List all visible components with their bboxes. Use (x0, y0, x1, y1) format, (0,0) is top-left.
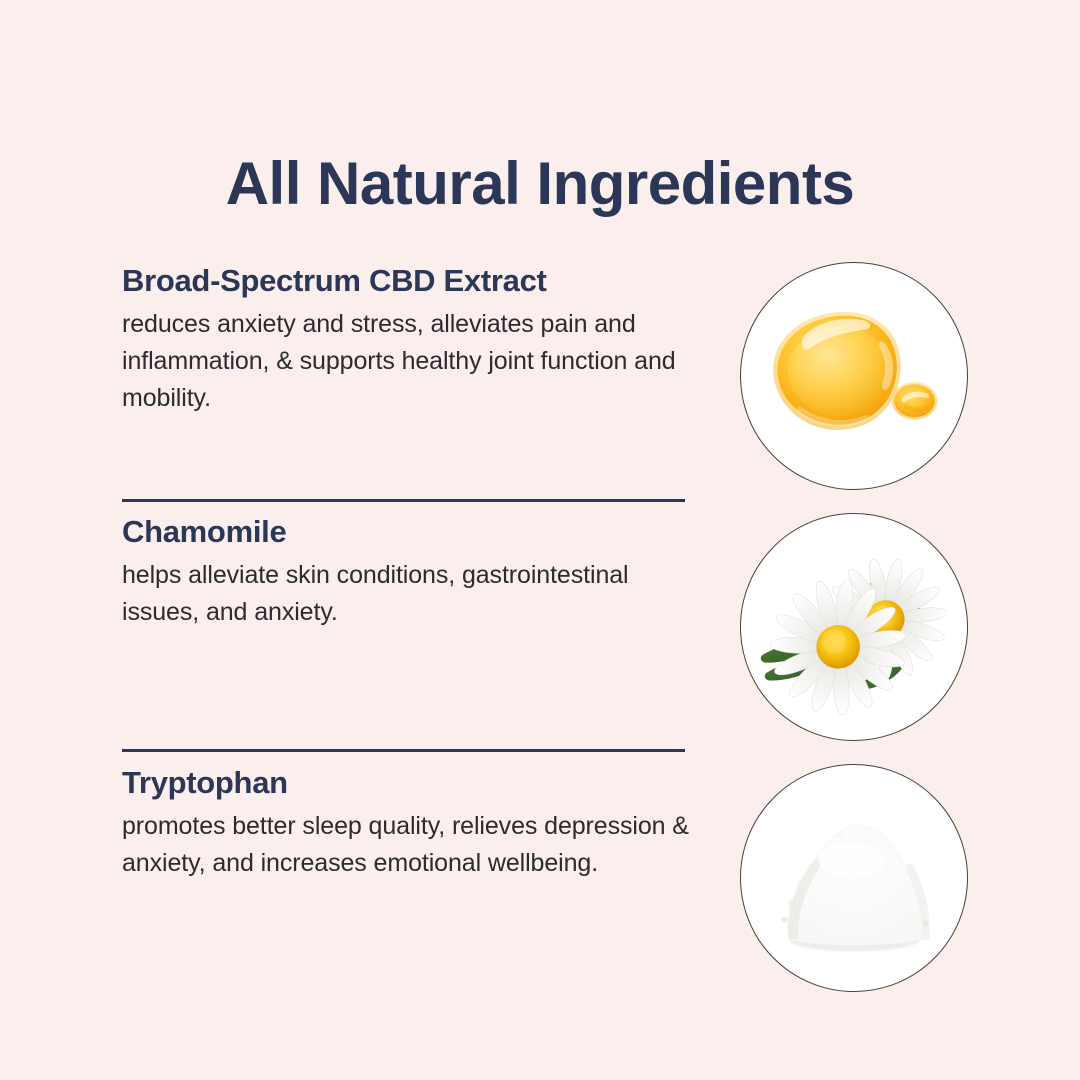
ingredient-text-tryptophan: Tryptophan promotes better sleep quality… (122, 764, 697, 882)
ingredient-name: Broad-Spectrum CBD Extract (122, 262, 697, 300)
ingredient-description: helps alleviate skin conditions, gastroi… (122, 557, 697, 631)
ingredient-text-cbd: Broad-Spectrum CBD Extract reduces anxie… (122, 262, 697, 417)
ingredient-description: promotes better sleep quality, relieves … (122, 808, 697, 882)
ingredient-image-cbd (740, 262, 968, 490)
section-divider-2 (122, 749, 685, 752)
ingredient-name: Tryptophan (122, 764, 697, 802)
white-powder-icon (741, 765, 967, 991)
ingredient-description: reduces anxiety and stress, alleviates p… (122, 306, 697, 417)
ingredients-infographic: All Natural Ingredients Broad-Spectrum C… (0, 0, 1080, 1080)
chamomile-flower-icon (741, 514, 967, 740)
ingredient-text-chamomile: Chamomile helps alleviate skin condition… (122, 513, 697, 631)
page-title: All Natural Ingredients (0, 148, 1080, 220)
ingredient-image-tryptophan (740, 764, 968, 992)
ingredient-name: Chamomile (122, 513, 697, 551)
section-divider-1 (122, 499, 685, 502)
ingredient-image-chamomile (740, 513, 968, 741)
cbd-oil-drop-icon (741, 263, 967, 489)
